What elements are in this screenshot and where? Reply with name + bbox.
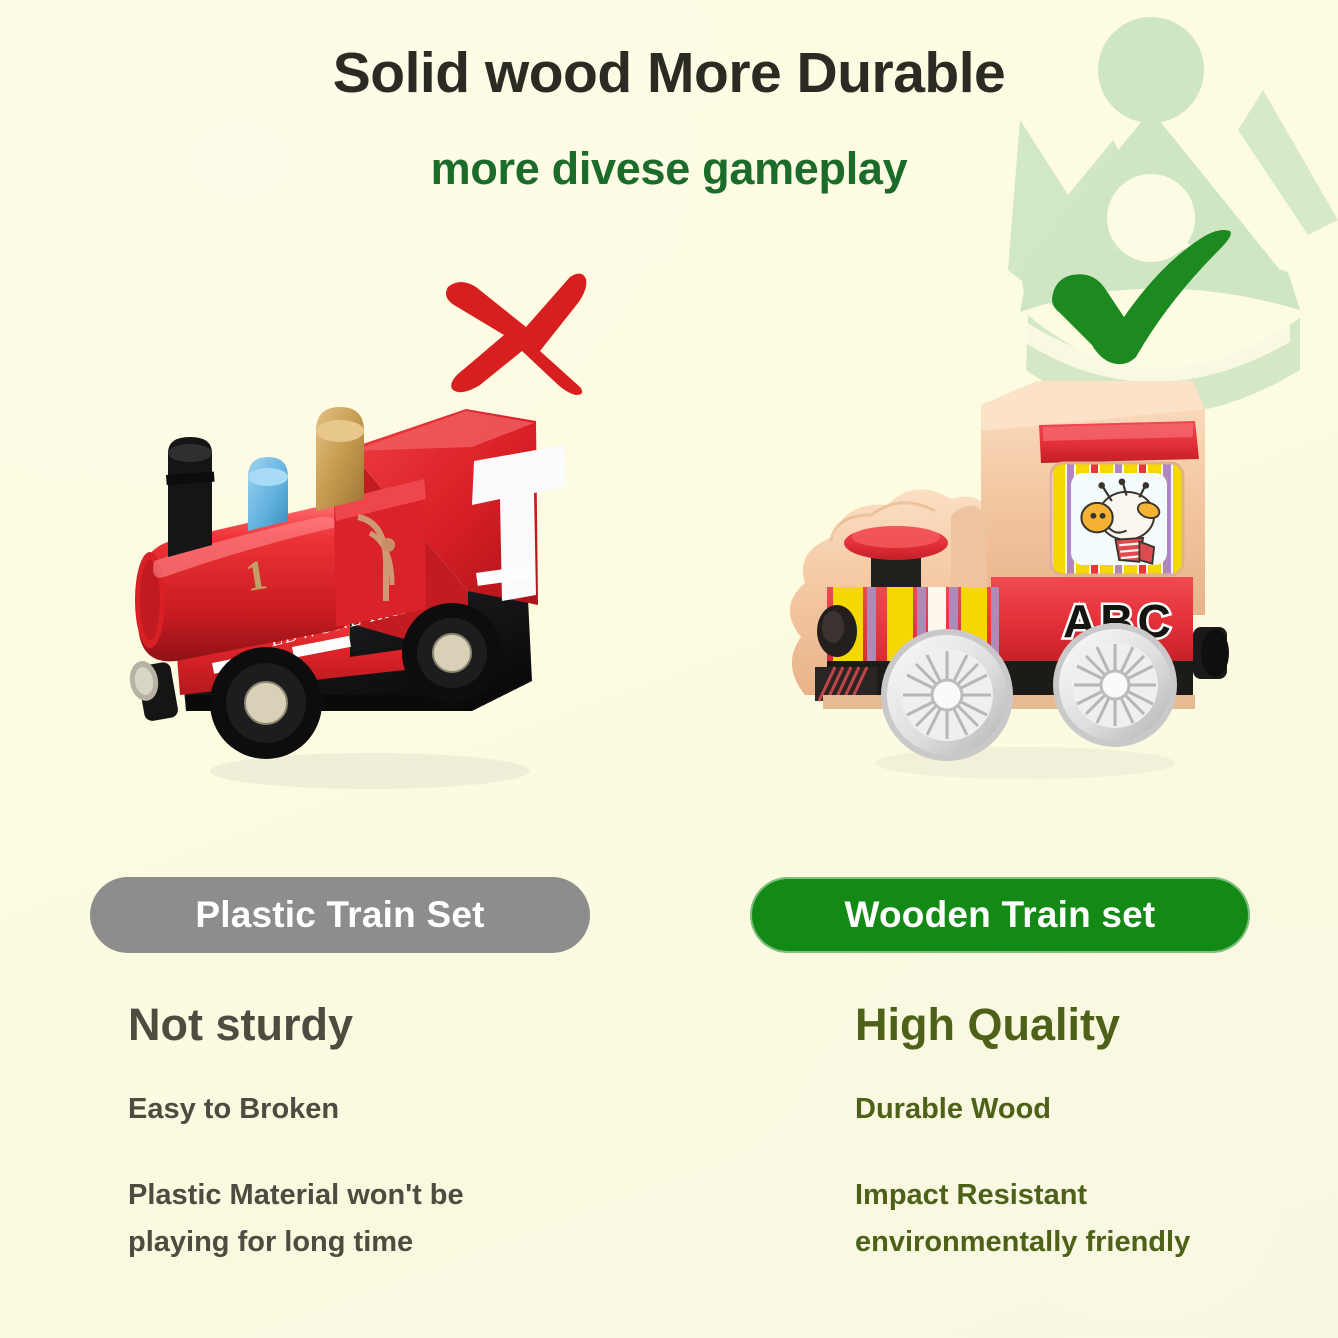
plastic-feature-line-1: Plastic Material won't be	[128, 1172, 688, 1219]
wooden-features-column: High Quality Durable Wood Impact Resista…	[855, 1002, 1325, 1266]
green-check-mark-icon	[1040, 225, 1240, 365]
plastic-features-column: Not sturdy Easy to Broken Plastic Materi…	[128, 1002, 688, 1266]
plastic-feature-subheading: Easy to Broken	[128, 1095, 688, 1124]
infographic-page: Solid wood More Durable more divese game…	[0, 0, 1338, 1338]
plastic-train-set-pill[interactable]: Plastic Train Set	[90, 877, 590, 953]
wooden-feature-heading: High Quality	[855, 1002, 1325, 1047]
wooden-train-set-pill-label: Wooden Train set	[845, 894, 1156, 936]
plastic-feature-heading: Not sturdy	[128, 1002, 688, 1047]
plastic-train-set-pill-label: Plastic Train Set	[195, 894, 484, 936]
wooden-train-set-pill[interactable]: Wooden Train set	[750, 877, 1250, 953]
wooden-feature-line-2: environmentally friendly	[855, 1219, 1325, 1266]
wooden-train-image: ABC	[775, 365, 1245, 795]
red-x-mark-icon	[430, 265, 600, 395]
page-subtitle: more divese gameplay	[0, 143, 1338, 195]
plastic-train-image: EDWONE HAPPY TRAIN 1	[120, 395, 590, 805]
page-title: Solid wood More Durable	[0, 40, 1338, 106]
plastic-feature-line-2: playing for long time	[128, 1219, 688, 1266]
wooden-feature-line-1: Impact Resistant	[855, 1172, 1325, 1219]
wooden-feature-subheading: Durable Wood	[855, 1095, 1325, 1124]
